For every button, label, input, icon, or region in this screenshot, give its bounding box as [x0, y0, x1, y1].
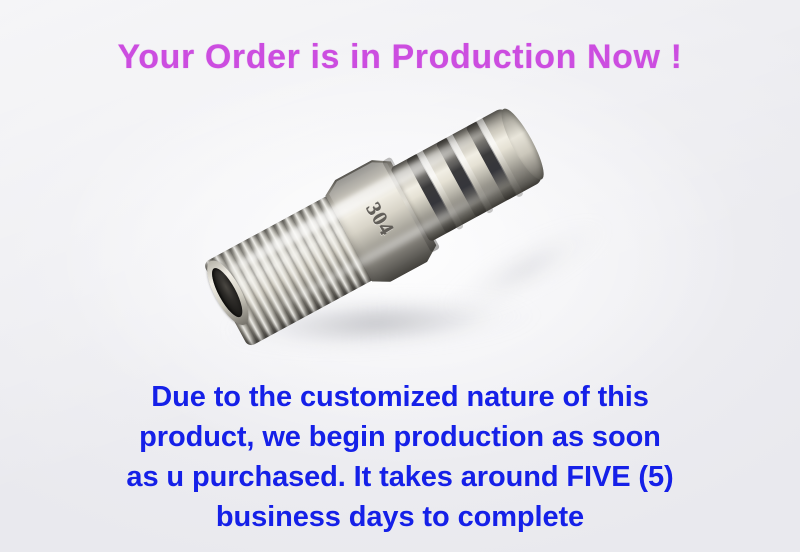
notice-line: as u purchased. It takes around FIVE (5): [0, 457, 800, 497]
notice-line: business days to complete: [0, 497, 800, 537]
notice-line: product, we begin production as soon: [0, 417, 800, 457]
notice-line: Due to the customized nature of this: [0, 377, 800, 417]
promo-banner: Your Order is in Production Now ! 304 Du: [0, 0, 800, 552]
product-photo: 304: [0, 96, 800, 372]
page-title: Your Order is in Production Now !: [0, 38, 800, 77]
production-notice: Due to the customized nature of this pro…: [0, 377, 800, 537]
